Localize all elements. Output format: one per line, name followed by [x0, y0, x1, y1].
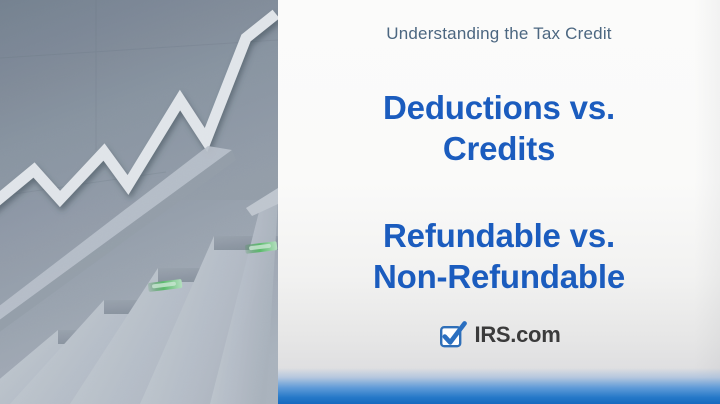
headline-line: Refundable vs.: [278, 215, 720, 256]
headline-block-deductions: Deductions vs. Credits: [278, 87, 720, 169]
hero-photo: [0, 0, 278, 404]
irs-logo[interactable]: IRS.com: [278, 320, 720, 350]
headline-line: Credits: [278, 128, 720, 169]
slide-subtitle: Understanding the Tax Credit: [278, 24, 720, 44]
headline-line: Deductions vs.: [278, 87, 720, 128]
headline-block-refundable: Refundable vs. Non-Refundable: [278, 215, 720, 297]
checkbox-check-icon: [438, 320, 468, 350]
irs-logo-text: IRS.com: [475, 324, 561, 347]
content-panel: Understanding the Tax Credit Deductions …: [278, 0, 720, 404]
staircase-trendline-illustration: [0, 0, 278, 404]
slide-canvas: Understanding the Tax Credit Deductions …: [0, 0, 720, 404]
headline-line: Non-Refundable: [278, 256, 720, 297]
